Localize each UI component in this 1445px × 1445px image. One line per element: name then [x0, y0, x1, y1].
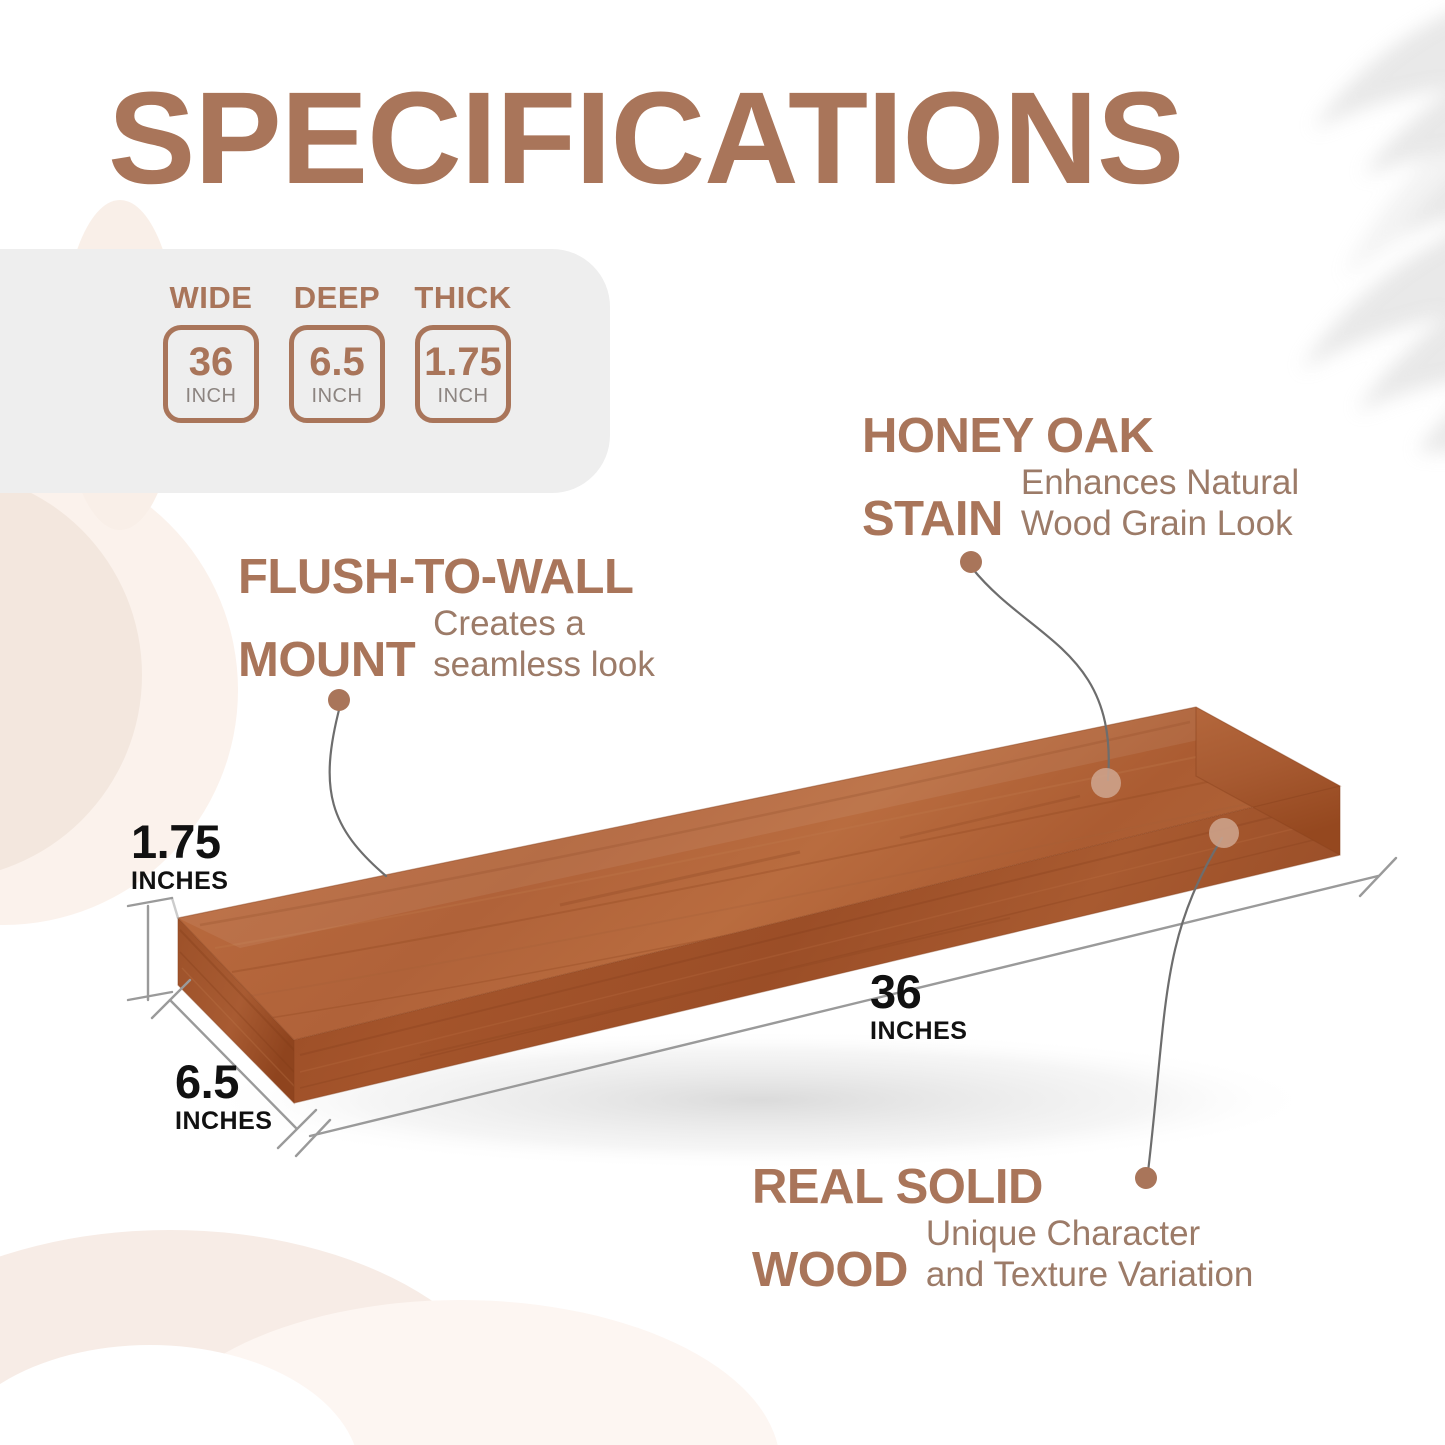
- callout-stain-head-line1: HONEY OAK: [862, 412, 1299, 462]
- bottom-left-blob-b: [140, 1300, 780, 1445]
- callout-wood-head-line1: REAL SOLID: [752, 1163, 1253, 1213]
- spec-unit-deep: INCH: [312, 386, 363, 406]
- dimension-value-thickness: 1.75: [131, 818, 228, 865]
- spec-box-wide: 36 INCH: [163, 325, 259, 423]
- spec-badge-row: WIDE 36 INCH DEEP 6.5 INCH THICK 1.75 IN…: [160, 280, 514, 423]
- spec-caption-deep: DEEP: [294, 280, 380, 316]
- specifications-infographic: SPECIFICATIONS WIDE 36 INCH DEEP 6.5 INC…: [0, 0, 1445, 1445]
- spec-value-wide: 36: [189, 342, 234, 382]
- page-title: SPECIFICATIONS: [108, 72, 1183, 203]
- spec-badge-wide: WIDE 36 INCH: [160, 280, 262, 423]
- dimension-label-thickness: 1.75 INCHES: [131, 818, 228, 894]
- leader-dot-stain: [960, 551, 982, 573]
- dimension-unit-width: INCHES: [870, 1019, 967, 1044]
- bottom-left-blob-a: [0, 1230, 520, 1445]
- callout-stain-head-line2: STAIN: [862, 495, 1003, 545]
- dimension-value-width: 36: [870, 968, 967, 1015]
- bottom-left-blob-c: [0, 1345, 360, 1445]
- dimension-label-depth: 6.5 INCHES: [175, 1058, 272, 1134]
- spec-value-deep: 6.5: [309, 342, 365, 382]
- callout-honey-oak-stain: HONEY OAK STAIN Enhances Natural Wood Gr…: [862, 412, 1299, 545]
- callout-mount-head-line2: MOUNT: [238, 636, 415, 686]
- dimension-value-depth: 6.5: [175, 1058, 272, 1105]
- callout-real-solid-wood: REAL SOLID WOOD Unique Character and Tex…: [752, 1163, 1253, 1296]
- beige-arc-inner: [0, 470, 142, 880]
- spec-unit-wide: INCH: [186, 386, 237, 406]
- dimension-unit-thickness: INCHES: [131, 869, 228, 894]
- leader-dot-mount: [328, 689, 350, 711]
- callout-mount-desc-line2: seamless look: [433, 644, 655, 685]
- spec-unit-thick: INCH: [438, 386, 489, 406]
- spec-box-thick: 1.75 INCH: [415, 325, 511, 423]
- callout-flush-to-wall-mount: FLUSH-TO-WALL MOUNT Creates a seamless l…: [238, 553, 655, 686]
- dimension-unit-depth: INCHES: [175, 1109, 272, 1134]
- callout-wood-desc-line1: Unique Character: [926, 1213, 1254, 1254]
- shelf-dot-stain: [1091, 768, 1121, 798]
- callout-stain-desc-line1: Enhances Natural: [1021, 462, 1299, 503]
- spec-caption-thick: THICK: [414, 280, 511, 316]
- callout-mount-head-line1: FLUSH-TO-WALL: [238, 553, 655, 603]
- callout-stain-desc-line2: Wood Grain Look: [1021, 503, 1299, 544]
- dimension-label-width: 36 INCHES: [870, 968, 967, 1044]
- spec-box-deep: 6.5 INCH: [289, 325, 385, 423]
- spec-caption-wide: WIDE: [170, 280, 253, 316]
- callout-wood-head-line2: WOOD: [752, 1246, 908, 1296]
- spec-badge-deep: DEEP 6.5 INCH: [286, 280, 388, 423]
- callout-wood-desc-line2: and Texture Variation: [926, 1254, 1254, 1295]
- callout-mount-desc-line1: Creates a: [433, 603, 655, 644]
- spec-badge-thick: THICK 1.75 INCH: [412, 280, 514, 423]
- spec-value-thick: 1.75: [424, 342, 502, 382]
- shelf-dot-wood: [1209, 818, 1239, 848]
